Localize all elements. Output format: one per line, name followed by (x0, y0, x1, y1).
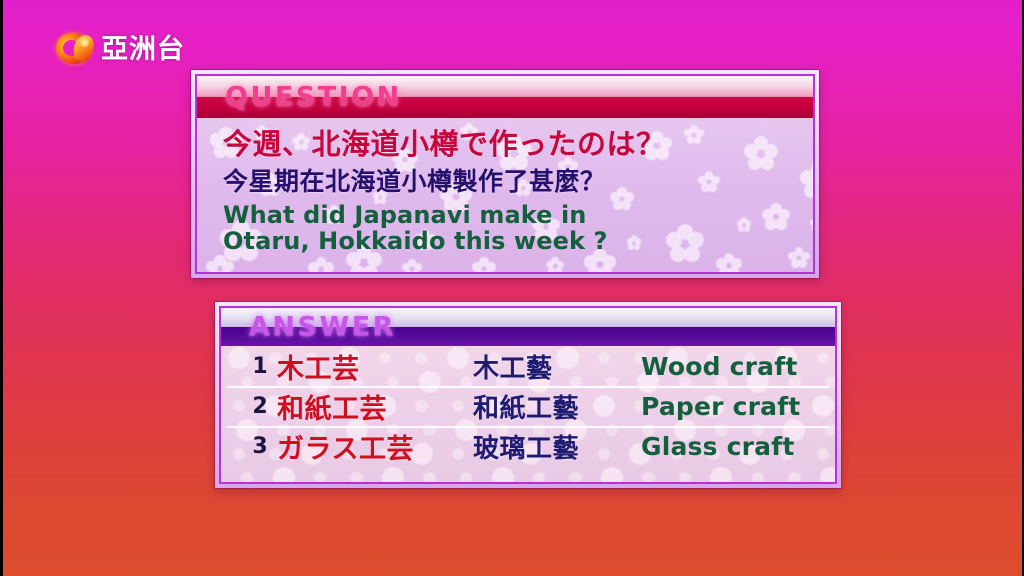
question-panel: QUESTION 今週、北海道小樽で作ったのは？ 今星期在北海道小樽製作了甚麼？… (191, 70, 819, 278)
question-banner: QUESTION (197, 76, 813, 118)
flower-icon (207, 256, 233, 274)
answer-option-chinese: 和紙工藝 (473, 388, 641, 425)
answer-option-row[interactable]: 3ガラス工芸玻璃工藝Glass craft (221, 426, 835, 466)
question-english-line-1: What did Japanavi make in (223, 203, 803, 229)
answer-option-chinese: 木工藝 (473, 348, 641, 385)
answer-option-english: Glass craft (641, 432, 794, 461)
answer-banner-label: ANSWER (249, 314, 396, 341)
tv-quiz-screen: 亞洲台 QUESTION 今週、北海道小樽で作ったのは？ 今星期在北海道小樽製作… (0, 0, 1024, 576)
question-banner-label: QUESTION (225, 84, 402, 111)
question-text-block: 今週、北海道小樽で作ったのは？ 今星期在北海道小樽製作了甚麼？ What did… (223, 127, 803, 255)
answer-option-number: 2 (243, 394, 277, 419)
flower-icon (547, 258, 563, 274)
answer-body: 1木工芸木工藝Wood craft2和紙工芸和紙工藝Paper craft3ガラ… (221, 346, 835, 484)
flower-icon (717, 254, 741, 274)
channel-name-label: 亞洲台 (101, 36, 185, 63)
answer-option-english: Paper craft (641, 392, 800, 421)
question-body: 今週、北海道小樽で作ったのは？ 今星期在北海道小樽製作了甚麼？ What did… (197, 118, 813, 274)
answer-option-number: 3 (243, 434, 277, 459)
flower-icon (811, 216, 813, 232)
flower-icon (473, 258, 495, 274)
answer-panel: ANSWER 1木工芸木工藝Wood craft2和紙工芸和紙工藝Paper c… (215, 302, 841, 488)
answer-option-row[interactable]: 1木工芸木工藝Wood craft (221, 346, 835, 386)
channel-logo: 亞洲台 (55, 29, 185, 69)
answer-option-row[interactable]: 2和紙工芸和紙工藝Paper craft (221, 386, 835, 426)
answer-option-english: Wood craft (641, 352, 797, 381)
question-english-text: What did Japanavi make in Otaru, Hokkaid… (223, 203, 803, 255)
question-english-line-2: Otaru, Hokkaido this week ? (223, 229, 803, 255)
answer-option-japanese: ガラス工芸 (277, 427, 473, 466)
japanavi-swirl-logo-icon (55, 29, 95, 69)
answer-option-number: 1 (243, 354, 277, 379)
answer-option-list: 1木工芸木工藝Wood craft2和紙工芸和紙工藝Paper craft3ガラ… (221, 346, 835, 484)
answer-banner: ANSWER (221, 308, 835, 346)
answer-option-japanese: 和紙工芸 (277, 387, 473, 426)
flower-icon (403, 260, 421, 274)
question-japanese-text: 今週、北海道小樽で作ったのは？ (223, 127, 803, 162)
answer-option-japanese: 木工芸 (277, 347, 473, 386)
question-chinese-text: 今星期在北海道小樽製作了甚麼？ (223, 167, 803, 197)
answer-option-chinese: 玻璃工藝 (473, 428, 641, 465)
flower-icon (309, 258, 333, 274)
